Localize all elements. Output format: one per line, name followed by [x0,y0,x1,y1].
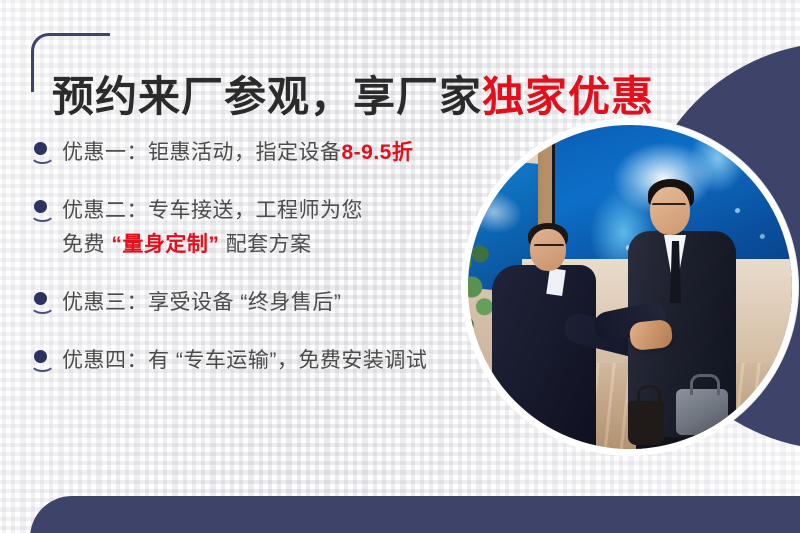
list-item-line: 优惠四：有 “专车运输”，免费安装调试 [62,344,427,378]
circle-arc-bullet-icon [30,344,52,374]
left-man-glasses-icon [534,244,564,254]
circle-arc-bullet-icon [30,136,52,166]
headline-normal-text: 预约来厂参观，享厂家 [52,73,482,120]
bullet-arc [30,146,55,164]
plain-text: 免费 [62,233,111,256]
list-item-label: 优惠四：有 “专车运输”，免费安装调试 [62,344,427,378]
list-item-line: 优惠二：专车接送，工程师为您 [62,194,363,228]
promo-banner: 预约来厂参观，享厂家独家优惠 优惠一：钜惠活动，指定设备8-9.5折优惠二：专车… [0,0,800,533]
bullet-arc [30,354,55,372]
photo-scene [468,125,792,449]
grey-duffel-bag [676,389,728,435]
plain-text: 优惠二：专车接送，工程师为您 [62,199,363,222]
handshake-photo [468,125,792,449]
plain-text: 配套方案 [219,233,311,256]
offer-list: 优惠一：钜惠活动，指定设备8-9.5折优惠二：专车接送，工程师为您免费 “量身定… [30,136,500,402]
circle-arc-bullet-icon [30,194,52,224]
list-item-line: 优惠一：钜惠活动，指定设备8-9.5折 [62,136,413,170]
list-item-label: 优惠三：享受设备 “终身售后” [62,286,341,320]
list-item: 优惠三：享受设备 “终身售后” [30,286,500,320]
plain-text: 优惠四：有 “专车运输”，免费安装调试 [62,349,427,372]
list-item-label: 优惠一：钜惠活动，指定设备8-9.5折 [62,136,413,170]
list-item: 优惠二：专车接送，工程师为您免费 “量身定制” 配套方案 [30,194,500,262]
photo-ring [462,119,798,455]
accent-text: “量身定制” [111,233,219,256]
list-item-line: 优惠三：享受设备 “终身售后” [62,286,341,320]
navy-bottom-bar [30,496,800,533]
page-title: 预约来厂参观，享厂家独家优惠 [52,72,654,122]
accent-text: 8-9.5折 [342,141,414,164]
list-item: 优惠四：有 “专车运输”，免费安装调试 [30,344,500,378]
bullet-arc [30,296,55,314]
plain-text: 优惠三：享受设备 “终身售后” [62,291,341,314]
list-item: 优惠一：钜惠活动，指定设备8-9.5折 [30,136,500,170]
bullet-arc [30,204,55,222]
list-item-label: 优惠二：专车接送，工程师为您免费 “量身定制” 配套方案 [62,194,363,262]
left-man-suit [492,265,596,449]
dark-handbag [628,401,664,445]
plain-text: 优惠一：钜惠活动，指定设备 [62,141,342,164]
headline-accent-text: 独家优惠 [482,73,654,120]
circle-arc-bullet-icon [30,286,52,316]
list-item-line: 免费 “量身定制” 配套方案 [62,228,363,262]
right-man-glasses-icon [652,203,686,214]
